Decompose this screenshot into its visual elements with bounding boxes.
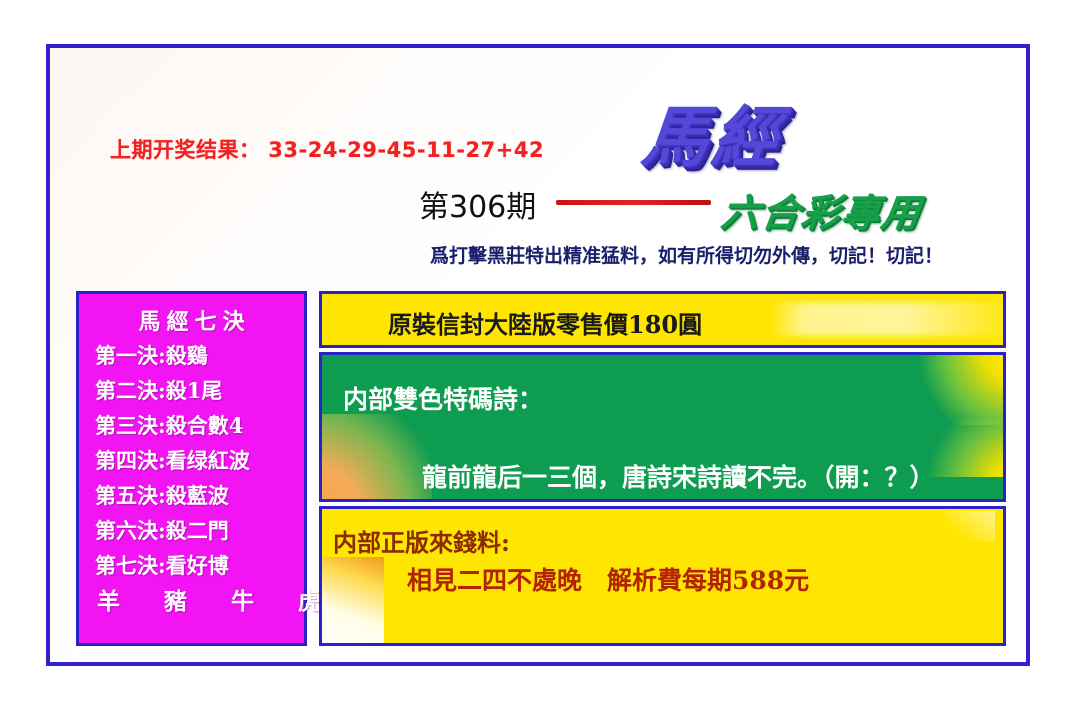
seven-decisions-title: 馬經七決 <box>79 304 304 336</box>
brand-title: 馬經 <box>638 84 788 180</box>
poem-label: 内部雙色特碼詩： <box>343 380 543 416</box>
list-item: 第一決:殺鷄 <box>79 338 304 373</box>
decor-gradient-top-right <box>913 355 1003 425</box>
right-content-column: 原裝信封大陸版零售價180圓 内部雙色特碼詩： 龍前龍后一三個，唐詩宋詩讀不完。… <box>319 291 1006 646</box>
price-banner-text: 原裝信封大陸版零售價180圓 <box>388 305 702 340</box>
money-tip-line: 相見二四不處晚 解析費每期588元 <box>407 561 809 597</box>
list-item: 第四決:看绿紅波 <box>79 443 304 478</box>
blurred-overlay-strip <box>769 302 1006 336</box>
seven-decisions-panel: 馬經七決 第一決:殺鷄 第二決:殺1尾 第三決:殺合數4 第四決:看绿紅波 第五… <box>76 291 307 646</box>
poster-page: 上期开奖结果： 33-24-29-45-11-27+42 第306期 馬經 六合… <box>0 0 1080 720</box>
decor-highlight-top-right <box>943 511 995 541</box>
money-tip-panel: 内部正版來錢料: 相見二四不處晚 解析費每期588元 <box>319 506 1006 646</box>
secret-poem-panel: 内部雙色特碼詩： 龍前龍后一三個，唐詩宋詩讀不完。（開：？） <box>319 352 1006 502</box>
list-item: 第六決:殺二門 <box>79 513 304 548</box>
decor-gradient-right <box>923 419 1003 477</box>
money-tip-label: 内部正版來錢料: <box>333 523 510 558</box>
list-item: 第三決:殺合數4 <box>79 408 304 443</box>
list-item: 第五決:殺藍波 <box>79 478 304 513</box>
decor-gradient-left <box>322 557 384 646</box>
last-draw-result: 上期开奖结果： 33-24-29-45-11-27+42 <box>110 134 544 164</box>
price-banner: 原裝信封大陸版零售價180圓 <box>319 291 1006 348</box>
decor-gradient-bottom-left <box>322 414 432 499</box>
list-item: 第二決:殺1尾 <box>79 373 304 408</box>
brand-subtitle: 六合彩專用 <box>718 182 926 237</box>
issue-divider-rule <box>556 200 711 205</box>
zodiac-row: 羊 豬 牛 虎 <box>79 583 304 621</box>
poem-line: 龍前龍后一三個，唐詩宋詩讀不完。（開：？） <box>422 458 935 494</box>
issue-number: 第306期 <box>419 182 536 226</box>
list-item: 第七決:看好博 <box>79 548 304 583</box>
tagline-text: 爲打擊黑莊特出精准猛料，如有所得切勿外傳，切記！切記！ <box>430 241 943 268</box>
